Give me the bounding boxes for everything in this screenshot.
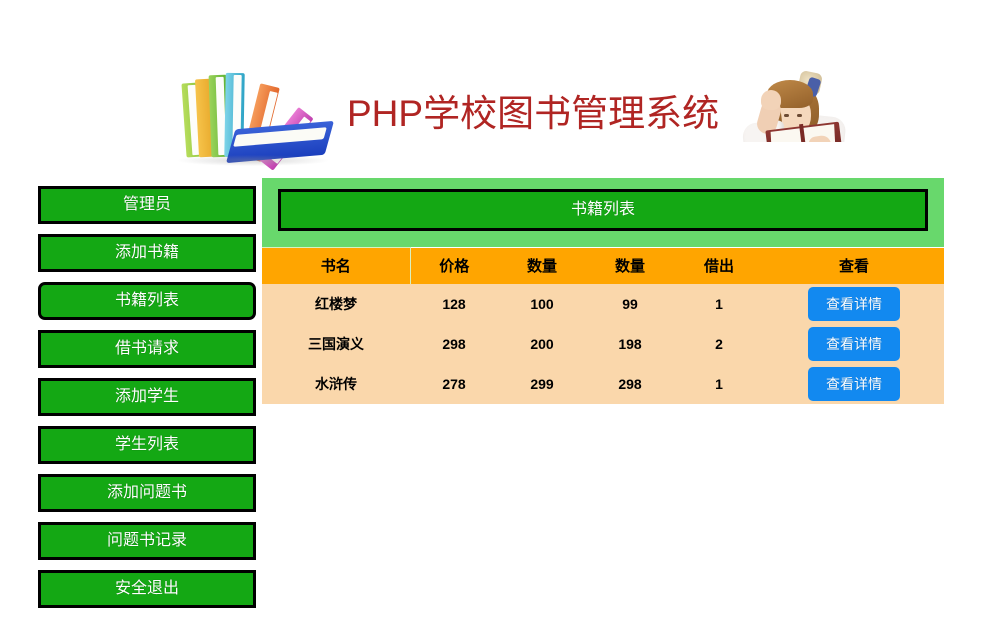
sidebar-item-borrow-requests[interactable]: 借书请求 — [38, 330, 256, 368]
cell-quantity-available: 298 — [586, 364, 674, 404]
column-header-quantity: 数量 — [498, 248, 586, 284]
cell-lent: 1 — [674, 284, 764, 324]
cell-price: 278 — [410, 364, 498, 404]
view-details-button[interactable]: 查看详情 — [808, 327, 900, 361]
panel-header: 书籍列表 — [262, 178, 944, 247]
girl-reading-book-icon — [737, 64, 849, 164]
cell-quantity-available: 198 — [586, 324, 674, 364]
cell-quantity: 100 — [498, 284, 586, 324]
cell-book-name: 三国演义 — [262, 324, 410, 364]
table-row: 红楼梦 128 100 99 1 查看详情 — [262, 284, 944, 324]
sidebar-item-issue-book-record[interactable]: 问题书记录 — [38, 522, 256, 560]
panel-title: 书籍列表 — [278, 189, 928, 231]
page-title: PHP学校图书管理系统 — [347, 95, 719, 132]
header-banner: PHP学校图书管理系统 — [0, 0, 984, 172]
cell-book-name: 水浒传 — [262, 364, 410, 404]
cell-view: 查看详情 — [764, 364, 944, 404]
sidebar-item-logout[interactable]: 安全退出 — [38, 570, 256, 608]
sidebar-nav: 管理员 添加书籍 书籍列表 借书请求 添加学生 学生列表 添加问题书 问题书记录… — [38, 186, 256, 618]
sidebar-item-add-book[interactable]: 添加书籍 — [38, 234, 256, 272]
cell-price: 128 — [410, 284, 498, 324]
view-details-button[interactable]: 查看详情 — [808, 367, 900, 401]
cell-lent: 2 — [674, 324, 764, 364]
table-row: 水浒传 278 299 298 1 查看详情 — [262, 364, 944, 404]
cell-quantity-available: 99 — [586, 284, 674, 324]
cell-view: 查看详情 — [764, 284, 944, 324]
column-header-view: 查看 — [764, 248, 944, 284]
column-header-price: 价格 — [410, 248, 498, 284]
cell-book-name: 红楼梦 — [262, 284, 410, 324]
cell-quantity: 200 — [498, 324, 586, 364]
table-row: 三国演义 298 200 198 2 查看详情 — [262, 324, 944, 364]
banner-inner: PHP学校图书管理系统 — [170, 55, 830, 172]
table-header-row: 书名 价格 数量 数量 借出 查看 — [262, 248, 944, 284]
sidebar-item-book-list[interactable]: 书籍列表 — [38, 282, 256, 320]
cell-view: 查看详情 — [764, 324, 944, 364]
sidebar-item-student-list[interactable]: 学生列表 — [38, 426, 256, 464]
column-header-book-name: 书名 — [262, 248, 410, 284]
cell-quantity: 299 — [498, 364, 586, 404]
content-panel: 书籍列表 书名 价格 数量 数量 借出 查看 红楼梦 128 100 99 1 … — [262, 178, 944, 404]
sidebar-item-add-student[interactable]: 添加学生 — [38, 378, 256, 416]
cell-lent: 1 — [674, 364, 764, 404]
view-details-button[interactable]: 查看详情 — [808, 287, 900, 321]
stack-of-books-icon — [170, 59, 335, 169]
column-header-quantity-available: 数量 — [586, 248, 674, 284]
sidebar-item-admin[interactable]: 管理员 — [38, 186, 256, 224]
column-header-lent: 借出 — [674, 248, 764, 284]
sidebar-item-add-issue-book[interactable]: 添加问题书 — [38, 474, 256, 512]
book-table: 书名 价格 数量 数量 借出 查看 红楼梦 128 100 99 1 查看详情 … — [262, 247, 944, 404]
cell-price: 298 — [410, 324, 498, 364]
